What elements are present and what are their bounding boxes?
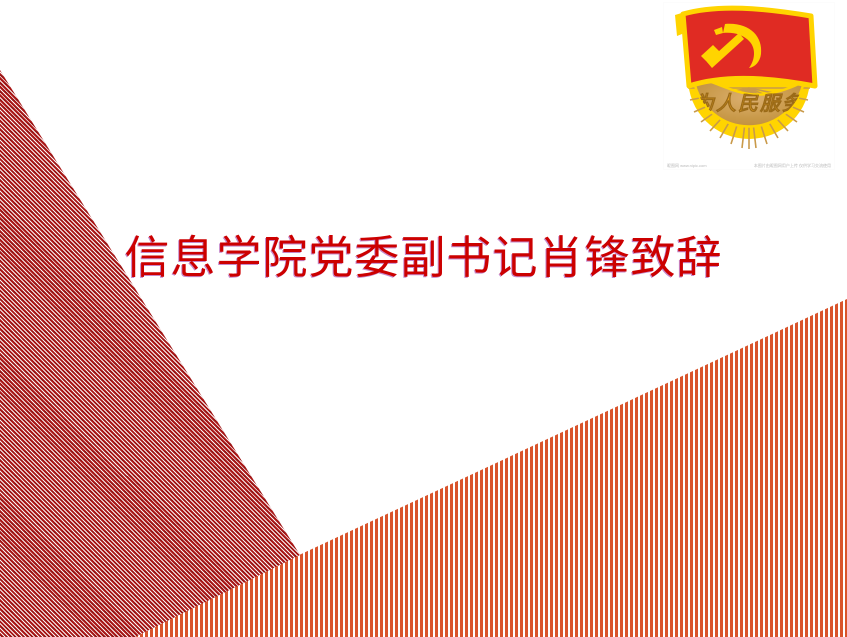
slide-canvas: 信息学院党委副书记肖锋致辞 [0,0,847,637]
party-emblem-icon: 为人民服务 [663,2,835,170]
cpc-party-emblem: 为人民服务 [663,2,835,170]
title-block: 信息学院党委副书记肖锋致辞 [0,231,847,284]
party-flag-icon [675,8,815,86]
page-title: 信息学院党委副书记肖锋致辞 [124,231,722,284]
